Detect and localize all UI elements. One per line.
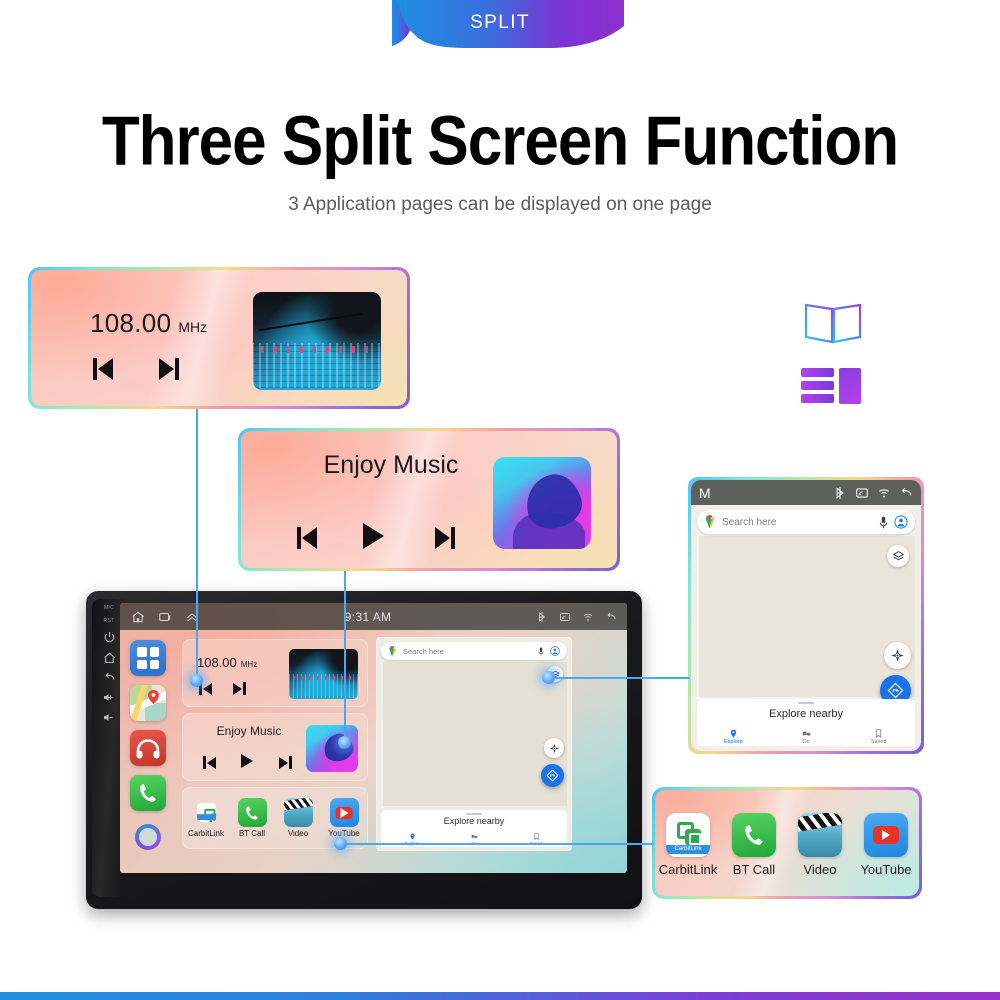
map-nav-tab-saved[interactable]: Saved — [842, 727, 915, 746]
sheet-grab-handle[interactable] — [798, 702, 814, 704]
app-label: CarbitLink — [659, 862, 718, 877]
place-pin-icon — [148, 690, 159, 704]
mic-label: MIC — [104, 605, 114, 611]
screen-cast-icon[interactable] — [559, 611, 571, 623]
map-card-body: Search here Explore nearby — [691, 505, 921, 751]
app-youtube[interactable]: YouTube — [860, 813, 912, 877]
bluetooth-icon[interactable] — [833, 486, 847, 500]
split-banner: SPLIT — [0, 0, 1000, 50]
microphone-icon[interactable] — [879, 516, 888, 529]
app-bt-call[interactable]: BT Call — [232, 798, 272, 838]
account-circle-icon[interactable] — [894, 515, 908, 529]
sheet-grab-handle[interactable] — [466, 813, 482, 815]
three-pane-split-layout-icon — [801, 368, 861, 404]
wifi-icon[interactable] — [582, 611, 594, 623]
reset-label: RST — [104, 618, 115, 624]
app-label: BT Call — [733, 862, 775, 877]
sidebar-item-phone[interactable] — [130, 775, 166, 811]
explore-nearby-label: Explore nearby — [769, 708, 843, 720]
phone-icon — [137, 782, 159, 804]
power-icon[interactable] — [103, 631, 116, 644]
connector-dot-music — [338, 736, 351, 749]
carbitlink-icon: CarbitLink — [666, 813, 710, 857]
screen-cast-icon[interactable] — [855, 486, 869, 500]
app-youtube[interactable]: YouTube — [324, 798, 364, 838]
radio-frequency-unit: MHz — [178, 319, 207, 335]
directions-icon[interactable] — [541, 764, 564, 787]
app-label: CarbitLink — [188, 829, 224, 838]
map-search-placeholder: Search here — [403, 647, 532, 656]
page-title: Three Split Screen Function — [0, 102, 1000, 182]
explore-nearby-label: Explore nearby — [444, 816, 505, 826]
commute-icon — [802, 729, 811, 738]
phone-handset-icon — [238, 798, 267, 827]
google-maps-pin-icon — [388, 646, 397, 657]
banner-label: SPLIT — [0, 0, 1000, 46]
recent-apps-icon[interactable] — [157, 610, 173, 624]
map-app-card: M Search here — [688, 477, 924, 754]
car-head-unit: MIC RST 9:31 AM — [86, 591, 642, 909]
sidebar-item-assistant[interactable] — [135, 824, 161, 850]
clapperboard-icon — [798, 813, 842, 857]
map-bottom-nav: Explore Go Saved — [697, 727, 915, 746]
youtube-play-icon — [330, 798, 359, 827]
map-search-bar[interactable]: Search here — [381, 642, 567, 660]
app-dock-card: CarbitLink CarbitLink BT Call Video — [652, 787, 922, 899]
phone-handset-icon — [732, 813, 776, 857]
map-layers-icon[interactable] — [887, 545, 909, 567]
my-location-icon[interactable] — [544, 738, 564, 758]
back-icon[interactable] — [103, 671, 116, 684]
radio-frequency-value: 108.00 — [197, 655, 237, 670]
wifi-icon[interactable] — [877, 486, 891, 500]
app-label: Video — [803, 862, 836, 877]
app-label: BT Call — [239, 829, 265, 838]
radio-frequency-value: 108.00 — [90, 308, 171, 338]
head-unit-sidebar — [120, 630, 176, 873]
app-label: YouTube — [328, 829, 359, 838]
connector-dot-radio — [190, 674, 203, 687]
status-clock: 9:31 AM — [211, 610, 525, 624]
bookmark-icon — [874, 729, 883, 738]
music-widget-card: Enjoy Music — [238, 428, 620, 571]
explore-nearby-sheet[interactable]: Explore nearby — [381, 810, 567, 832]
youtube-play-icon — [864, 813, 908, 857]
account-circle-icon[interactable] — [550, 646, 560, 656]
app-video[interactable]: Video — [794, 813, 846, 877]
sidebar-item-app-drawer[interactable] — [130, 640, 166, 676]
sidebar-item-music[interactable] — [130, 730, 166, 766]
skip-previous-icon[interactable] — [93, 358, 113, 380]
play-icon[interactable] — [363, 523, 384, 549]
head-unit-map-widget[interactable]: Search here Explore nearby — [376, 637, 572, 851]
map-card-status-bar: M — [691, 480, 921, 505]
music-headphones-icon — [136, 739, 160, 758]
app-label: YouTube — [860, 862, 911, 877]
place-pin-icon — [729, 729, 738, 738]
connector-map — [548, 677, 690, 679]
connector-radio — [196, 409, 198, 675]
app-label: Video — [288, 829, 308, 838]
connector-dot-map — [542, 671, 555, 684]
back-icon[interactable] — [899, 486, 913, 500]
home-icon[interactable] — [130, 610, 146, 624]
radio-album-art — [253, 292, 381, 390]
skip-previous-icon[interactable] — [203, 756, 216, 769]
carbitlink-icon — [196, 803, 215, 822]
my-location-icon[interactable] — [884, 642, 911, 669]
map-nav-label: Explore — [724, 739, 743, 745]
map-canvas[interactable] — [697, 536, 915, 699]
map-nav-tab-explore[interactable]: Explore — [697, 727, 770, 746]
back-icon[interactable] — [605, 611, 617, 623]
map-card-title: M — [699, 485, 711, 501]
carbitlink-badge: CarbitLink — [666, 845, 710, 854]
skip-next-icon[interactable] — [159, 358, 179, 380]
two-panel-split-outline-icon — [801, 303, 865, 345]
radio-widget-card: 108.00MHz — [28, 267, 410, 409]
google-maps-pin-icon — [704, 515, 716, 529]
radio-frequency: 108.00MHz — [197, 655, 257, 670]
music-album-art — [306, 725, 358, 772]
map-search-placeholder: Search here — [722, 517, 873, 528]
app-carbitlink[interactable]: CarbitLink CarbitLink — [662, 813, 714, 877]
radio-album-art — [289, 649, 358, 699]
map-nav-label: Saved — [871, 739, 887, 745]
page-root: SPLIT Three Split Screen Function 3 Appl… — [0, 0, 1000, 1000]
skip-next-icon[interactable] — [233, 682, 246, 695]
volume-down-icon[interactable] — [103, 711, 116, 724]
skip-previous-icon[interactable] — [297, 527, 317, 549]
bookmark-icon — [533, 833, 540, 840]
connector-music — [344, 571, 346, 737]
explore-nearby-sheet[interactable]: Explore nearby — [697, 699, 915, 728]
map-nav-label: Go — [802, 739, 809, 745]
play-icon[interactable] — [241, 754, 253, 768]
clapperboard-icon — [284, 798, 313, 827]
bluetooth-icon[interactable] — [536, 611, 548, 623]
radio-frequency: 108.00MHz — [90, 308, 207, 339]
microphone-icon[interactable] — [538, 647, 544, 656]
app-bt-call[interactable]: BT Call — [728, 813, 780, 877]
skip-next-icon[interactable] — [279, 756, 292, 769]
music-title: Enjoy Music — [183, 724, 315, 738]
volume-up-icon[interactable] — [103, 691, 116, 704]
home-icon[interactable] — [103, 651, 116, 664]
app-carbitlink[interactable]: CarbitLink — [186, 798, 226, 838]
skip-next-icon[interactable] — [435, 527, 455, 549]
connector-dot-dock — [334, 837, 347, 850]
map-nav-tab-go[interactable]: Go — [770, 727, 843, 746]
place-pin-icon — [409, 833, 416, 840]
page-subtitle: 3 Application pages can be displayed on … — [0, 194, 1000, 216]
connector-dock — [340, 843, 654, 845]
head-unit-radio-widget[interactable]: 108.00MHz — [182, 639, 368, 707]
radio-frequency-unit: MHz — [241, 660, 257, 669]
music-album-art — [493, 457, 591, 549]
app-video[interactable]: Video — [278, 798, 318, 838]
commute-icon — [471, 833, 478, 840]
map-search-bar[interactable]: Search here — [697, 510, 915, 534]
sidebar-item-maps[interactable] — [130, 685, 166, 721]
map-canvas[interactable] — [381, 662, 567, 808]
footer-gradient-bar — [0, 992, 1000, 1000]
